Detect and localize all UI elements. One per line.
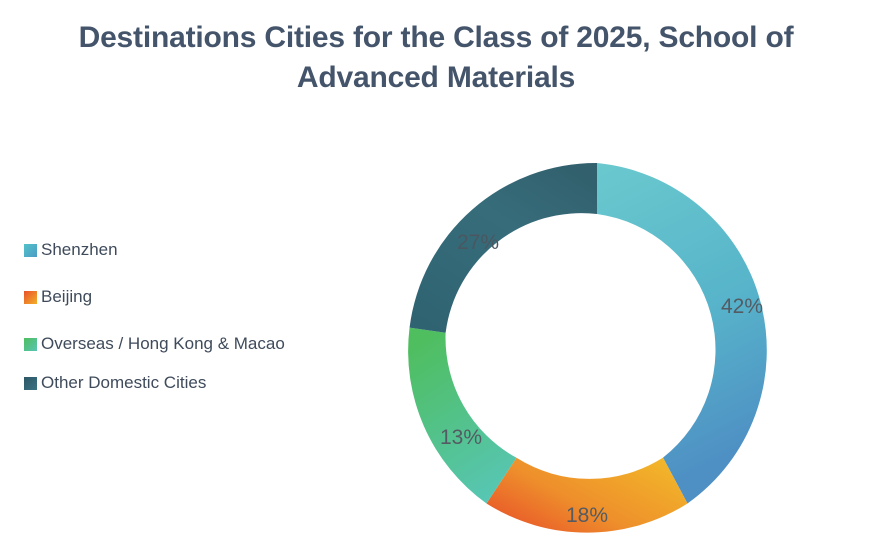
legend-item-shenzhen[interactable]: Shenzhen (24, 240, 314, 261)
donut-slice-overseas-hong-kong-macao[interactable] (408, 328, 516, 504)
legend-swatch-icon (24, 291, 37, 304)
legend-item-label: Beijing (41, 287, 92, 308)
slice-data-label-overseas-hong-kong-macao: 13% (440, 426, 482, 449)
legend-item-beijing[interactable]: Beijing (24, 287, 314, 308)
donut-chart: 42% 18% 13% 27% (409, 163, 785, 539)
slice-data-label-shenzhen: 42% (721, 295, 763, 318)
legend-item-label: Shenzhen (41, 240, 118, 261)
chart-legend: Shenzhen Beijing Overseas / Hong Kong & … (24, 240, 314, 394)
legend-item-label: Other Domestic Cities (41, 373, 206, 394)
donut-slice-other-domestic-cities[interactable] (410, 163, 597, 333)
legend-item-overseas-hong-kong-macao[interactable]: Overseas / Hong Kong & Macao (24, 334, 314, 355)
legend-item-label: Overseas / Hong Kong & Macao (41, 334, 285, 355)
slice-data-label-other-domestic-cities: 27% (457, 231, 499, 254)
page-title: Destinations Cities for the Class of 202… (60, 18, 812, 98)
slice-data-label-beijing: 18% (566, 504, 608, 527)
legend-item-other-domestic-cities[interactable]: Other Domestic Cities (24, 373, 314, 394)
legend-swatch-icon (24, 244, 37, 257)
legend-swatch-icon (24, 338, 37, 351)
donut-chart-svg: 42% 18% 13% 27% (409, 163, 785, 539)
legend-swatch-icon (24, 377, 37, 390)
donut-slice-shenzhen[interactable] (597, 163, 767, 504)
